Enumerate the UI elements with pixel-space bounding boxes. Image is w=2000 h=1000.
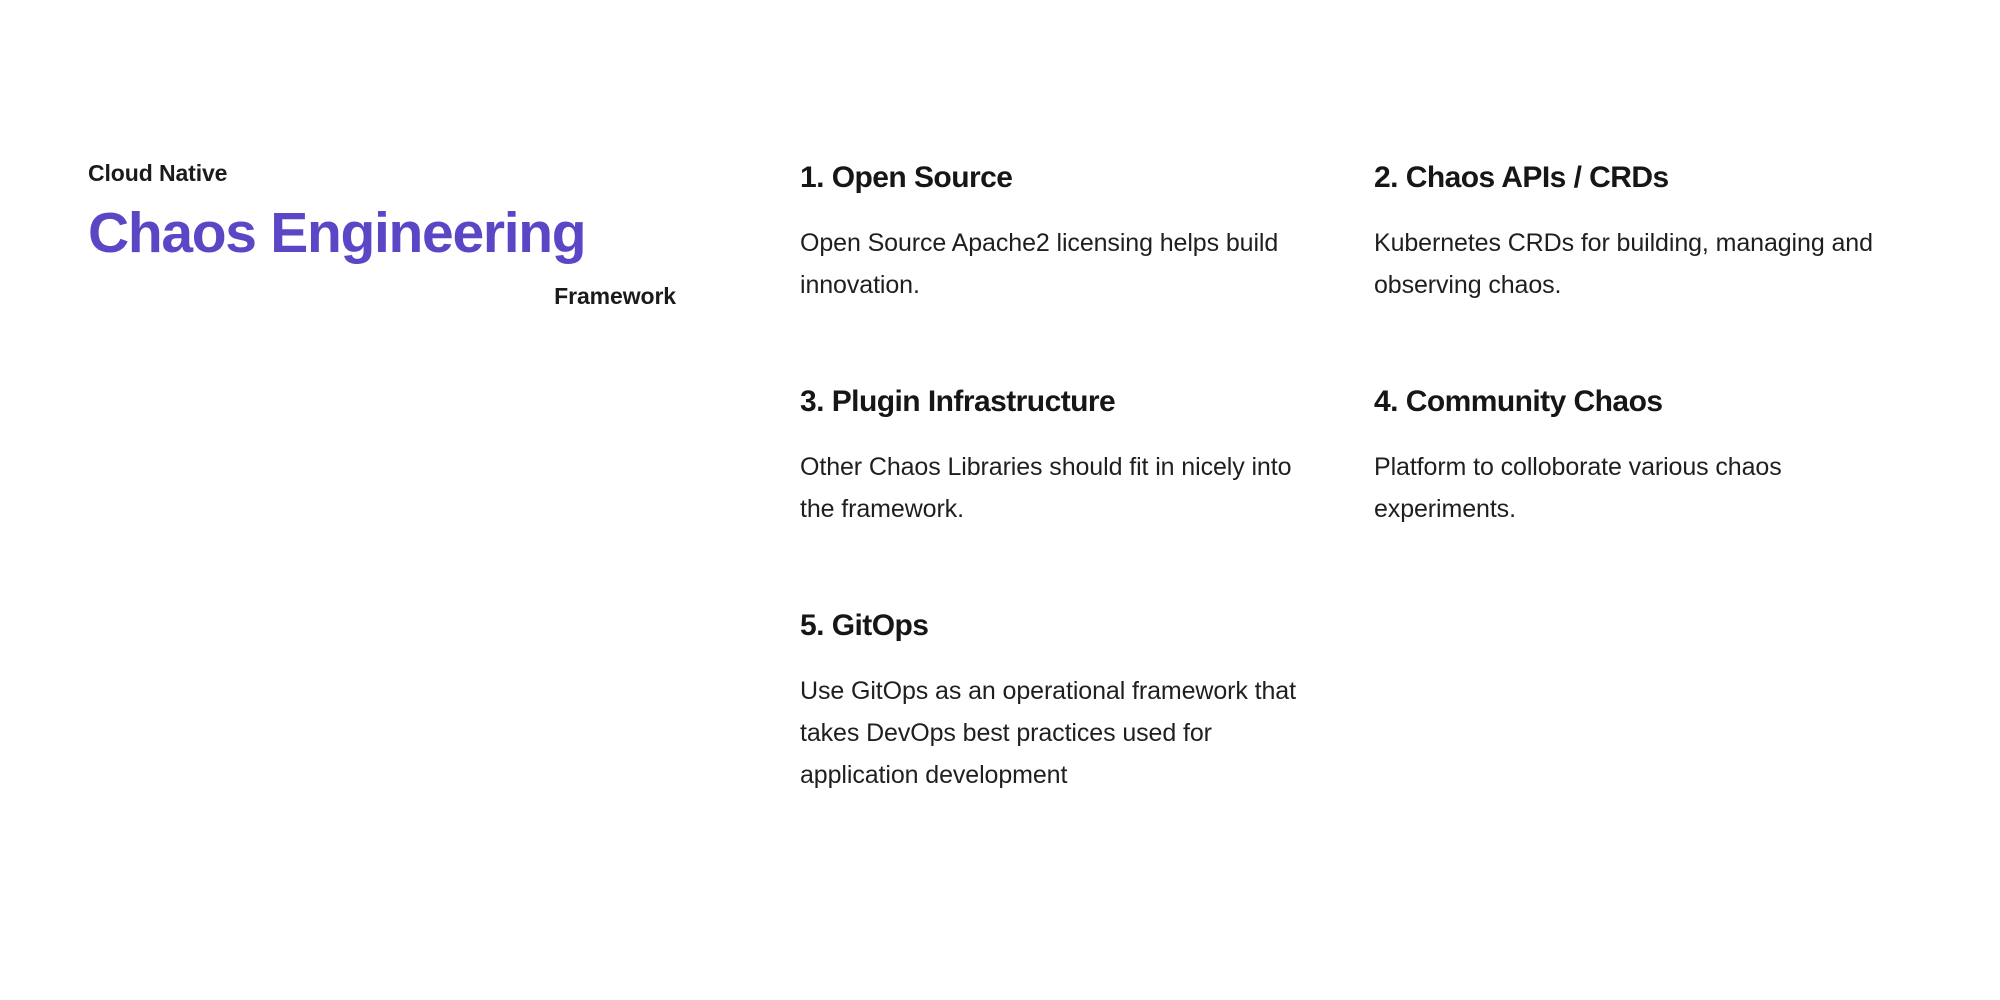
feature-body: Open Source Apache2 licensing helps buil…	[800, 222, 1308, 306]
eyebrow-label: Cloud Native	[88, 160, 676, 188]
feature-item-3: 3. Plugin Infrastructure Other Chaos Lib…	[800, 384, 1308, 530]
feature-body: Platform to colloborate various chaos ex…	[1374, 446, 1914, 530]
title-block: Cloud Native Chaos Engineering Framework	[88, 160, 676, 311]
feature-grid: 1. Open Source Open Source Apache2 licen…	[800, 160, 1920, 796]
feature-item-4: 4. Community Chaos Platform to collobora…	[1374, 384, 1920, 530]
feature-item-5: 5. GitOps Use GitOps as an operational f…	[800, 608, 1308, 796]
feature-heading: 5. GitOps	[800, 608, 1308, 644]
page-title: Chaos Engineering	[88, 202, 676, 266]
feature-item-2: 2. Chaos APIs / CRDs Kubernetes CRDs for…	[1374, 160, 1920, 306]
feature-item-1: 1. Open Source Open Source Apache2 licen…	[800, 160, 1308, 306]
feature-heading: 3. Plugin Infrastructure	[800, 384, 1308, 420]
subtitle-label: Framework	[88, 283, 676, 311]
feature-body: Kubernetes CRDs for building, managing a…	[1374, 222, 1914, 306]
feature-body: Use GitOps as an operational framework t…	[800, 670, 1308, 796]
feature-heading: 2. Chaos APIs / CRDs	[1374, 160, 1920, 196]
feature-body: Other Chaos Libraries should fit in nice…	[800, 446, 1308, 530]
slide-canvas: Cloud Native Chaos Engineering Framework…	[0, 0, 2000, 1000]
feature-slot-empty	[1374, 608, 1920, 609]
feature-heading: 1. Open Source	[800, 160, 1308, 196]
feature-heading: 4. Community Chaos	[1374, 384, 1920, 420]
